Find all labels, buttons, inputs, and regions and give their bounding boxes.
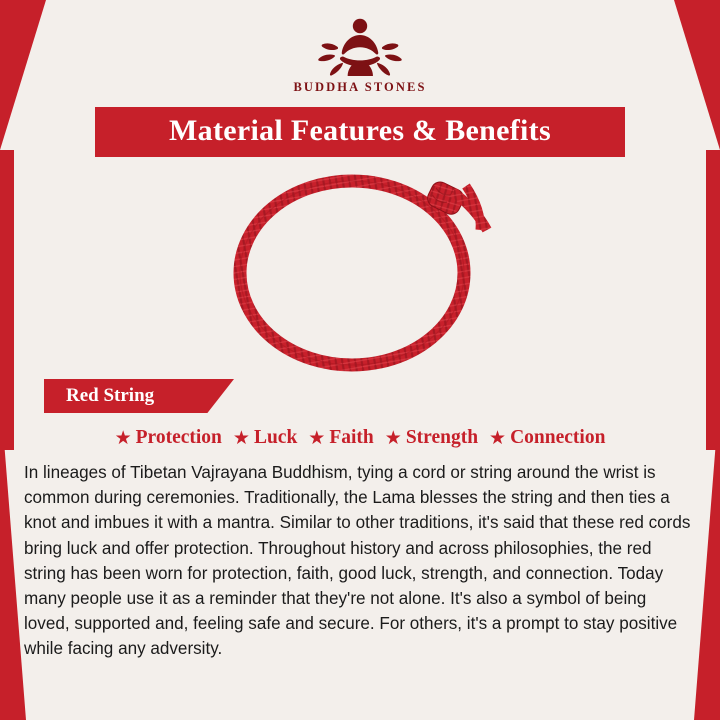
brand-block: BUDDHA STONES [0, 0, 720, 95]
benefit-label: Strength [406, 427, 478, 449]
title-banner: Material Features & Benefits [95, 107, 625, 157]
benefit-item-protection: ★ Protection [115, 427, 222, 449]
benefit-label: Luck [254, 427, 297, 449]
benefit-item-luck: ★ Luck [233, 427, 297, 449]
benefit-label: Connection [510, 427, 605, 449]
brand-name: BUDDHA STONES [293, 80, 426, 95]
benefit-item-faith: ★ Faith [308, 427, 373, 449]
benefits-list: ★ Protection ★ Luck ★ Faith ★ Strength ★… [0, 427, 720, 449]
red-braided-string-bracelet-icon [210, 161, 510, 376]
product-label-tab: Red String [44, 379, 234, 413]
description-text: In lineages of Tibetan Vajrayana Buddhis… [24, 460, 696, 662]
benefit-item-strength: ★ Strength [385, 427, 478, 449]
star-icon: ★ [233, 429, 250, 448]
infographic-page: BUDDHA STONES Material Features & Benefi… [0, 0, 720, 720]
star-icon: ★ [308, 429, 325, 448]
lotus-meditation-figure-icon [301, 14, 419, 76]
benefit-item-connection: ★ Connection [489, 427, 605, 449]
benefit-label: Faith [329, 427, 373, 449]
star-icon: ★ [385, 429, 402, 448]
page-title: Material Features & Benefits [169, 114, 551, 147]
star-icon: ★ [115, 429, 132, 448]
product-image [0, 157, 720, 379]
product-label: Red String [66, 385, 154, 407]
benefit-label: Protection [136, 427, 222, 449]
star-icon: ★ [489, 429, 506, 448]
